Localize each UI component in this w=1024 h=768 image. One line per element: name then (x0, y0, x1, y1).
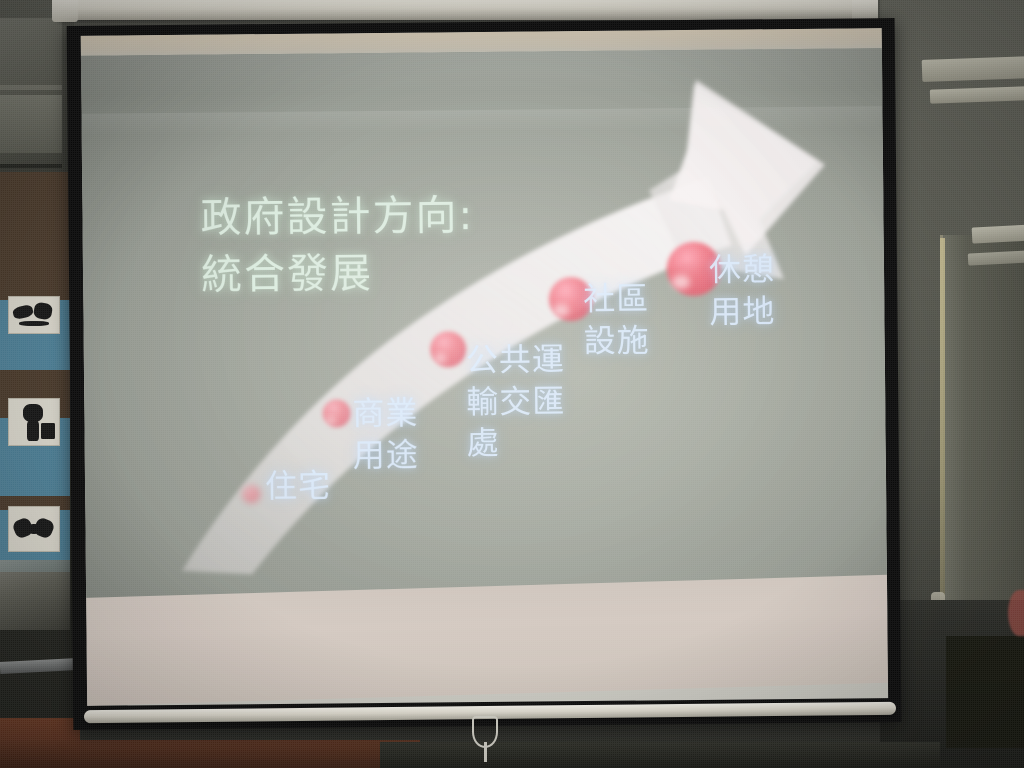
wall-light-fixture (972, 224, 1024, 243)
poster-ink (12, 304, 34, 320)
dark-equipment (946, 636, 1024, 748)
milestone-dot-residential (242, 485, 260, 503)
foreground-blur-object (1008, 590, 1024, 636)
poster-ink (27, 421, 39, 441)
label-community: 社區 設施 (583, 278, 650, 362)
ceiling-light-fixture (922, 56, 1024, 82)
poster-ink (23, 404, 43, 422)
pinboard-poster (8, 506, 60, 552)
poster-ink (33, 302, 54, 321)
pinboard-band-brown-1 (0, 172, 70, 240)
screen-fabric-bottom-band (86, 575, 888, 706)
milestone-dot-commercial (323, 399, 351, 427)
door-edge-highlight (940, 238, 945, 633)
pinboard-poster (8, 398, 60, 446)
cabinet-lower-panel (0, 95, 62, 153)
foreground-table-dark (380, 742, 940, 768)
desk-clutter (0, 560, 70, 630)
label-residential: 住宅 (265, 465, 331, 507)
label-transport-hub: 公共運 輸交匯 處 (466, 339, 566, 465)
poster-ink (19, 321, 49, 326)
foreground-table-wood (0, 740, 420, 768)
screen-surface: 政府設計方向: 統合發展 住宅 商業 用途 公共運 輸交匯 處 社區 設施 休憩… (81, 28, 888, 706)
projected-slide: 政府設計方向: 統合發展 住宅 商業 用途 公共運 輸交匯 處 社區 設施 休憩… (81, 48, 888, 646)
projection-screen: 政府設計方向: 統合發展 住宅 商業 用途 公共運 輸交匯 處 社區 設施 休憩… (67, 18, 902, 730)
cabinet-shelf (0, 85, 62, 90)
slide-title: 政府設計方向: 統合發展 (200, 187, 475, 303)
classroom-photo-scene: 政府設計方向: 統合發展 住宅 商業 用途 公共運 輸交匯 處 社區 設施 休憩… (0, 0, 1024, 768)
milestone-dot-transport (430, 331, 466, 367)
poster-ink (41, 423, 55, 439)
door-frame (940, 235, 1024, 635)
roller-end-cap-left (52, 0, 78, 22)
screen-pull-stem (484, 742, 487, 762)
label-leisure: 休憩 用地 (709, 249, 776, 333)
screen-roller-housing (58, 0, 878, 20)
poster-ink (29, 524, 39, 534)
pinboard-poster (8, 296, 60, 334)
pinboard-band-brown-2 (0, 240, 70, 300)
label-commercial: 商業 用途 (352, 393, 419, 477)
